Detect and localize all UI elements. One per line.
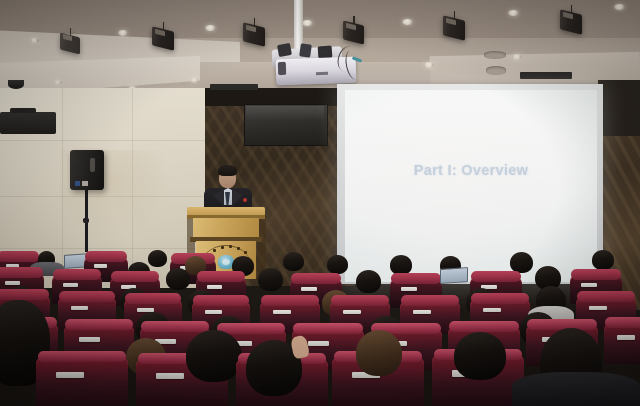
projector-label: [316, 72, 328, 75]
wall-speaker-bracket: [10, 108, 36, 113]
audience-head: [258, 268, 283, 291]
speaker-indicator: [82, 181, 88, 186]
lectern-crest-char: [229, 245, 232, 248]
lectern-crest-char: [237, 247, 240, 250]
projector-lens: [278, 62, 286, 75]
lectern-upper-panel: [193, 218, 259, 238]
institutional-crest-inner: [222, 259, 230, 265]
audience-head: [510, 252, 533, 273]
stage-light: [243, 18, 265, 44]
wall-speaker-strip: [210, 84, 258, 90]
lectern-crest-char: [213, 249, 216, 252]
lectern-crest-char: [221, 246, 224, 249]
stage-light: [443, 11, 465, 38]
downlight: [508, 10, 519, 16]
downlight: [402, 19, 413, 25]
attendee-laptop: [440, 267, 468, 284]
downlight: [54, 80, 62, 85]
downlight: [614, 4, 625, 10]
ceiling-speaker-grille: [486, 66, 506, 75]
wall-tile-line: [0, 140, 212, 141]
audience-head: [166, 268, 190, 290]
audience-head: [592, 250, 614, 270]
stage-light: [343, 16, 364, 42]
foreground-attendee-head: [186, 330, 242, 382]
stage-light: [560, 5, 582, 32]
projector-clamp: [277, 43, 292, 57]
audience-head: [148, 250, 167, 267]
downlight: [205, 25, 216, 31]
wall-speaker-strip: [520, 72, 572, 79]
lectern-crest-char: [244, 251, 247, 254]
audience-head: [283, 252, 304, 271]
wall-mounted-speaker: [0, 112, 56, 134]
projector-clamp: [299, 43, 312, 57]
audience-seat: [36, 356, 128, 406]
audience-head: [356, 270, 381, 293]
downlight: [190, 78, 199, 83]
audience-head: [390, 255, 412, 275]
ceiling-vent: [484, 51, 506, 59]
auditorium-photo: Part I: Overview: [0, 0, 640, 406]
stage-light: [152, 22, 174, 48]
downlight: [118, 30, 128, 36]
ceiling-dome-camera: [8, 80, 24, 89]
wall-display-panel-reflection: [246, 106, 324, 120]
projection-screen: [345, 90, 597, 282]
audience-head: [327, 255, 348, 274]
speaker-port: [90, 158, 95, 172]
foreground-attendee-head: [454, 332, 506, 380]
downlight: [424, 62, 434, 68]
presenter-lapel-pin: [243, 198, 247, 202]
foreground-attendee-head: [356, 330, 402, 376]
slide-title: Part I: Overview: [345, 163, 597, 179]
right-wall-header: [598, 80, 640, 136]
wall-tile-line: [0, 248, 212, 249]
audience-seat: [604, 322, 640, 364]
downlight: [30, 38, 39, 43]
speaker-stand-knob: [83, 218, 89, 223]
stage-light: [60, 28, 80, 52]
speaker-indicator: [75, 181, 80, 186]
ceiling-soffit: [0, 0, 640, 38]
foreground-attendee-shoulders: [512, 372, 640, 406]
downlight: [512, 54, 522, 60]
presenter-hair: [218, 165, 237, 176]
downlight: [302, 20, 313, 26]
